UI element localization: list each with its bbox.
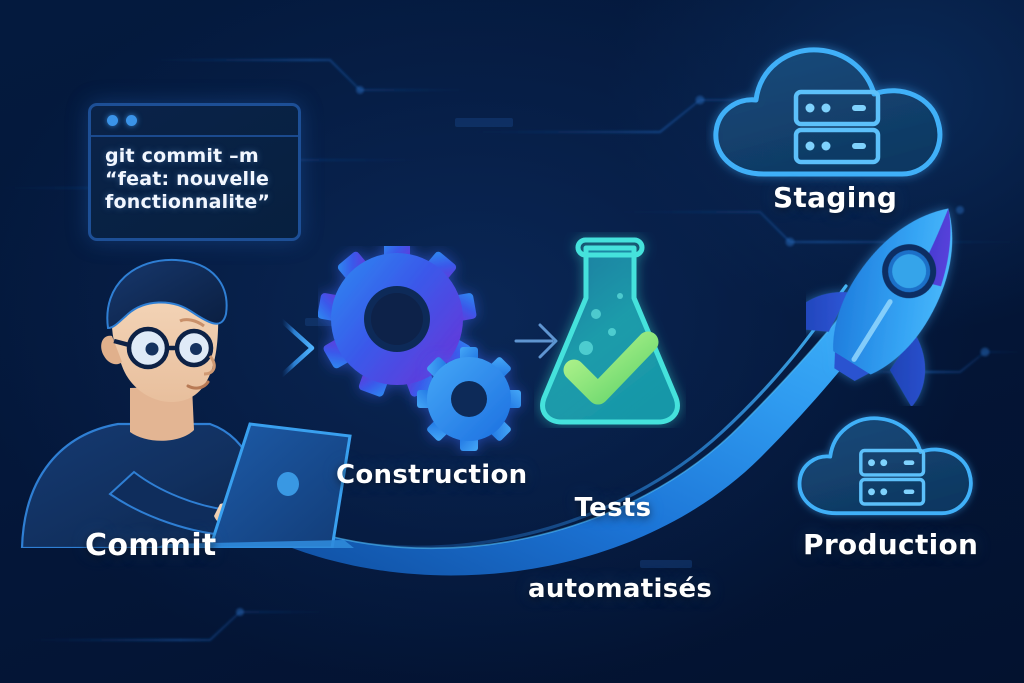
flask-check-icon [534, 232, 686, 428]
terminal-title-bar [91, 106, 298, 137]
stage-label-tests: Tests automatisés [528, 440, 698, 658]
production-cloud-server-icon [792, 404, 1000, 526]
terminal-line-1: git commit –m [105, 145, 298, 168]
developer-laptop-icon [14, 248, 354, 548]
terminal-line-3: fonctionnalite” [105, 191, 298, 214]
cicd-pipeline-illustration: git commit –m “feat: nouvelle fonctionna… [0, 0, 1024, 683]
terminal-dot-2-icon[interactable] [126, 115, 137, 126]
stage-label-commit: Commit [85, 530, 217, 562]
terminal-line-2: “feat: nouvelle [105, 168, 298, 191]
stage-label-construction: Construction [336, 462, 527, 489]
stage-label-staging: Staging [773, 183, 897, 212]
stage-label-tests-line1: Tests [528, 495, 698, 522]
staging-cloud-server-icon [706, 36, 978, 186]
stage-label-tests-line2: automatisés [528, 576, 698, 603]
gears-icon [318, 246, 533, 456]
terminal-body: git commit –m “feat: nouvelle fonctionna… [91, 137, 298, 215]
stage-label-production: Production [803, 530, 978, 559]
rocket-icon [806, 186, 986, 406]
terminal-dot-1-icon[interactable] [107, 115, 118, 126]
git-commit-terminal[interactable]: git commit –m “feat: nouvelle fonctionna… [88, 103, 301, 241]
